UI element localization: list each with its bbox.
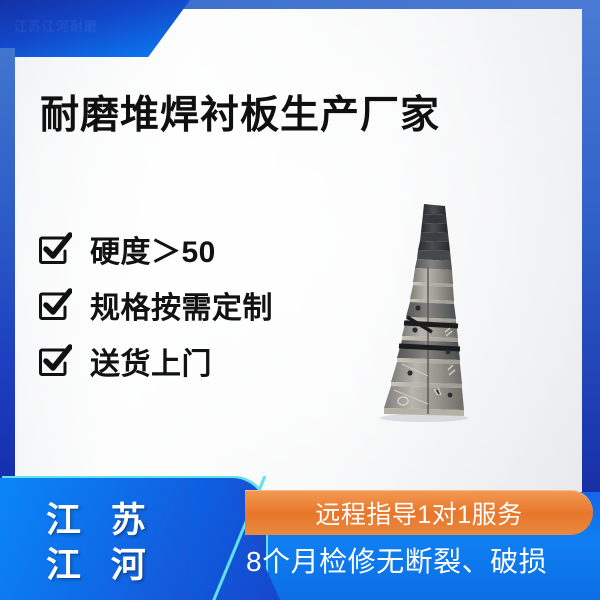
page-title: 耐磨堆焊衬板生产厂家 (40, 84, 440, 140)
service-badge: 远程指导1对1服务 (245, 490, 593, 535)
feature-list: 硬度＞50 规格按需定制 送货上门 (38, 221, 358, 389)
brand-line-2: 江 河 (46, 543, 226, 588)
poster-canvas: 江苏江河耐磨 耐磨堆焊衬板生产厂家 硬度＞50 规格按需定制 (0, 0, 600, 600)
list-item-label: 送货上门 (90, 339, 212, 383)
left-rail (0, 48, 15, 482)
footer-left-panel: 江 苏 江 河 (0, 478, 266, 600)
list-item-label: 规格按需定制 (90, 283, 273, 327)
checkbox-checked-icon (38, 232, 72, 266)
list-item-label: 硬度＞50 (90, 227, 216, 271)
list-item: 规格按需定制 (38, 277, 358, 333)
watermark-text: 江苏江河耐磨 (14, 16, 164, 35)
brand-line-1: 江 苏 (46, 498, 226, 543)
list-item: 硬度＞50 (38, 221, 358, 277)
footer-banner: 江 苏 江 河 远程指导1对1服务 8个月检修无断裂、破损 (0, 478, 600, 600)
service-badge-label: 远程指导1对1服务 (315, 495, 522, 531)
product-image (372, 204, 497, 422)
checkbox-checked-icon (38, 344, 72, 378)
footer-subtitle: 8个月检修无断裂、破损 (246, 540, 596, 580)
brand-name: 江 苏 江 河 (46, 498, 226, 588)
list-item: 送货上门 (38, 333, 358, 389)
checkbox-checked-icon (38, 288, 72, 322)
